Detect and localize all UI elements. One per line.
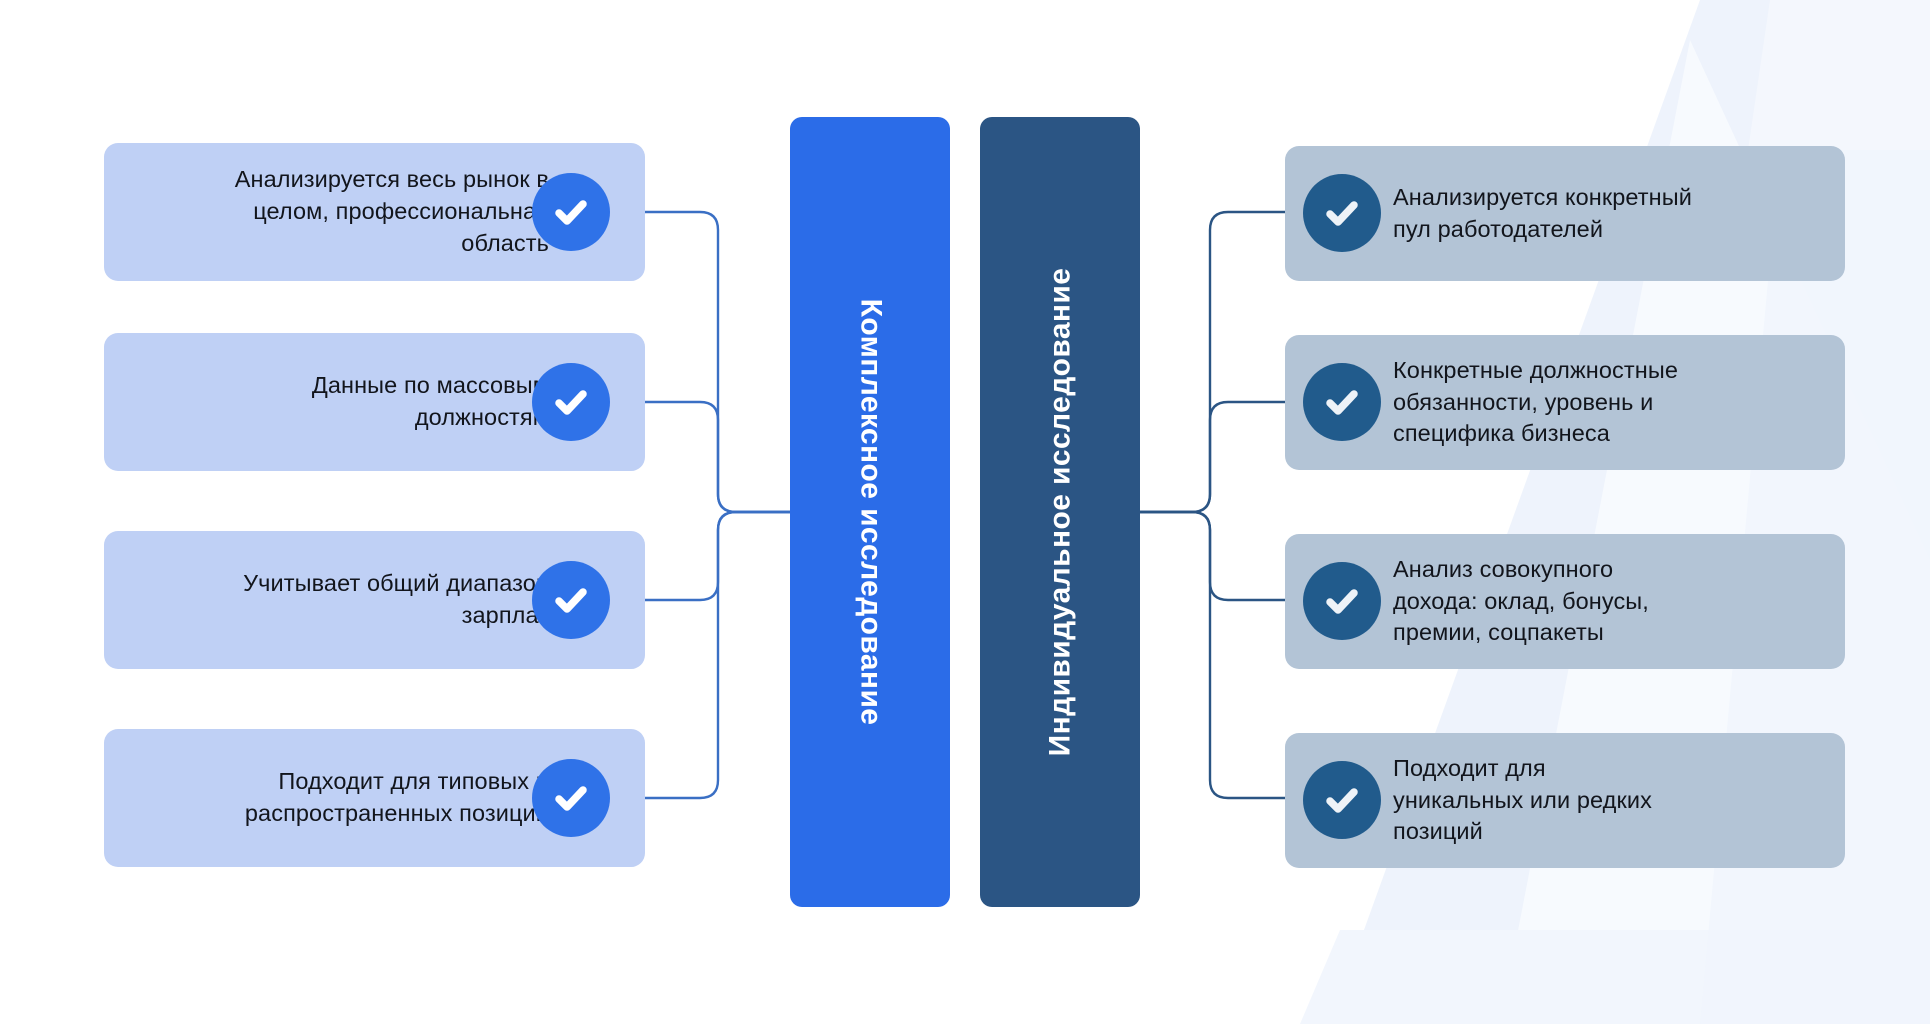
- left-card-2-line1: Данные по массовым: [312, 370, 549, 402]
- left-card-3-line2: зарплат: [243, 600, 549, 632]
- right-card-2-check-circle-icon: [1303, 363, 1381, 441]
- center-bar-secondary-label: Индивидуальное исследование: [1043, 268, 1077, 757]
- left-card-4-check-circle-icon: [532, 759, 610, 837]
- right-card-4-check-circle-icon: [1303, 761, 1381, 839]
- left-card-1-line1: Анализируется весь рынок в: [235, 164, 549, 196]
- right-card-4-line2: уникальных или редких: [1393, 785, 1652, 817]
- left-connector-group: [645, 212, 790, 798]
- left-card-3-line1: Учитывает общий диапазон: [243, 568, 549, 600]
- right-card-3-line2: дохода: оклад, бонусы,: [1393, 586, 1649, 618]
- right-card-2-text: Конкретные должностные обязанности, уров…: [1393, 355, 1678, 451]
- right-card-3-line1: Анализ совокупного: [1393, 554, 1649, 586]
- right-card-3-text: Анализ совокупного дохода: оклад, бонусы…: [1393, 554, 1649, 650]
- center-bar-primary[interactable]: Комплексное исследование: [790, 117, 950, 907]
- left-card-1-line3: область: [235, 228, 549, 260]
- right-card-2-line3: специфика бизнеса: [1393, 418, 1678, 450]
- right-card-4-line1: Подходит для: [1393, 753, 1652, 785]
- left-card-2-check-circle-icon: [532, 363, 610, 441]
- right-card-3-check-circle-icon: [1303, 562, 1381, 640]
- left-card-2-line2: должностям: [312, 402, 549, 434]
- left-card-1-line2: целом, профессиональная: [235, 196, 549, 228]
- left-card-1-check-circle-icon: [532, 173, 610, 251]
- diagram-canvas: Анализируется весь рынок в целом, профес…: [0, 0, 1930, 1024]
- right-card-1-text: Анализируется конкретный пул работодател…: [1393, 182, 1692, 246]
- right-card-1-line2: пул работодателей: [1393, 214, 1692, 246]
- center-bar-secondary[interactable]: Индивидуальное исследование: [980, 117, 1140, 907]
- left-card-2-text: Данные по массовым должностям: [312, 370, 549, 434]
- left-card-4-line1: Подходит для типовых и: [245, 766, 549, 798]
- right-card-1-line1: Анализируется конкретный: [1393, 182, 1692, 214]
- right-card-2-line1: Конкретные должностные: [1393, 355, 1678, 387]
- center-bar-primary-label: Комплексное исследование: [853, 299, 887, 726]
- right-card-4-line3: позиций: [1393, 816, 1652, 848]
- right-card-3-line3: премии, соцпакеты: [1393, 617, 1649, 649]
- right-connector-group: [1140, 212, 1285, 798]
- right-card-2-line2: обязанности, уровень и: [1393, 387, 1678, 419]
- left-card-4-line2: распространенных позиций: [245, 798, 549, 830]
- left-card-4-text: Подходит для типовых и распространенных …: [245, 766, 549, 830]
- left-card-3-text: Учитывает общий диапазон зарплат: [243, 568, 549, 632]
- left-card-1-text: Анализируется весь рынок в целом, профес…: [235, 164, 549, 260]
- right-card-4-text: Подходит для уникальных или редких позиц…: [1393, 753, 1652, 849]
- right-card-1-check-circle-icon: [1303, 174, 1381, 252]
- left-card-3-check-circle-icon: [532, 561, 610, 639]
